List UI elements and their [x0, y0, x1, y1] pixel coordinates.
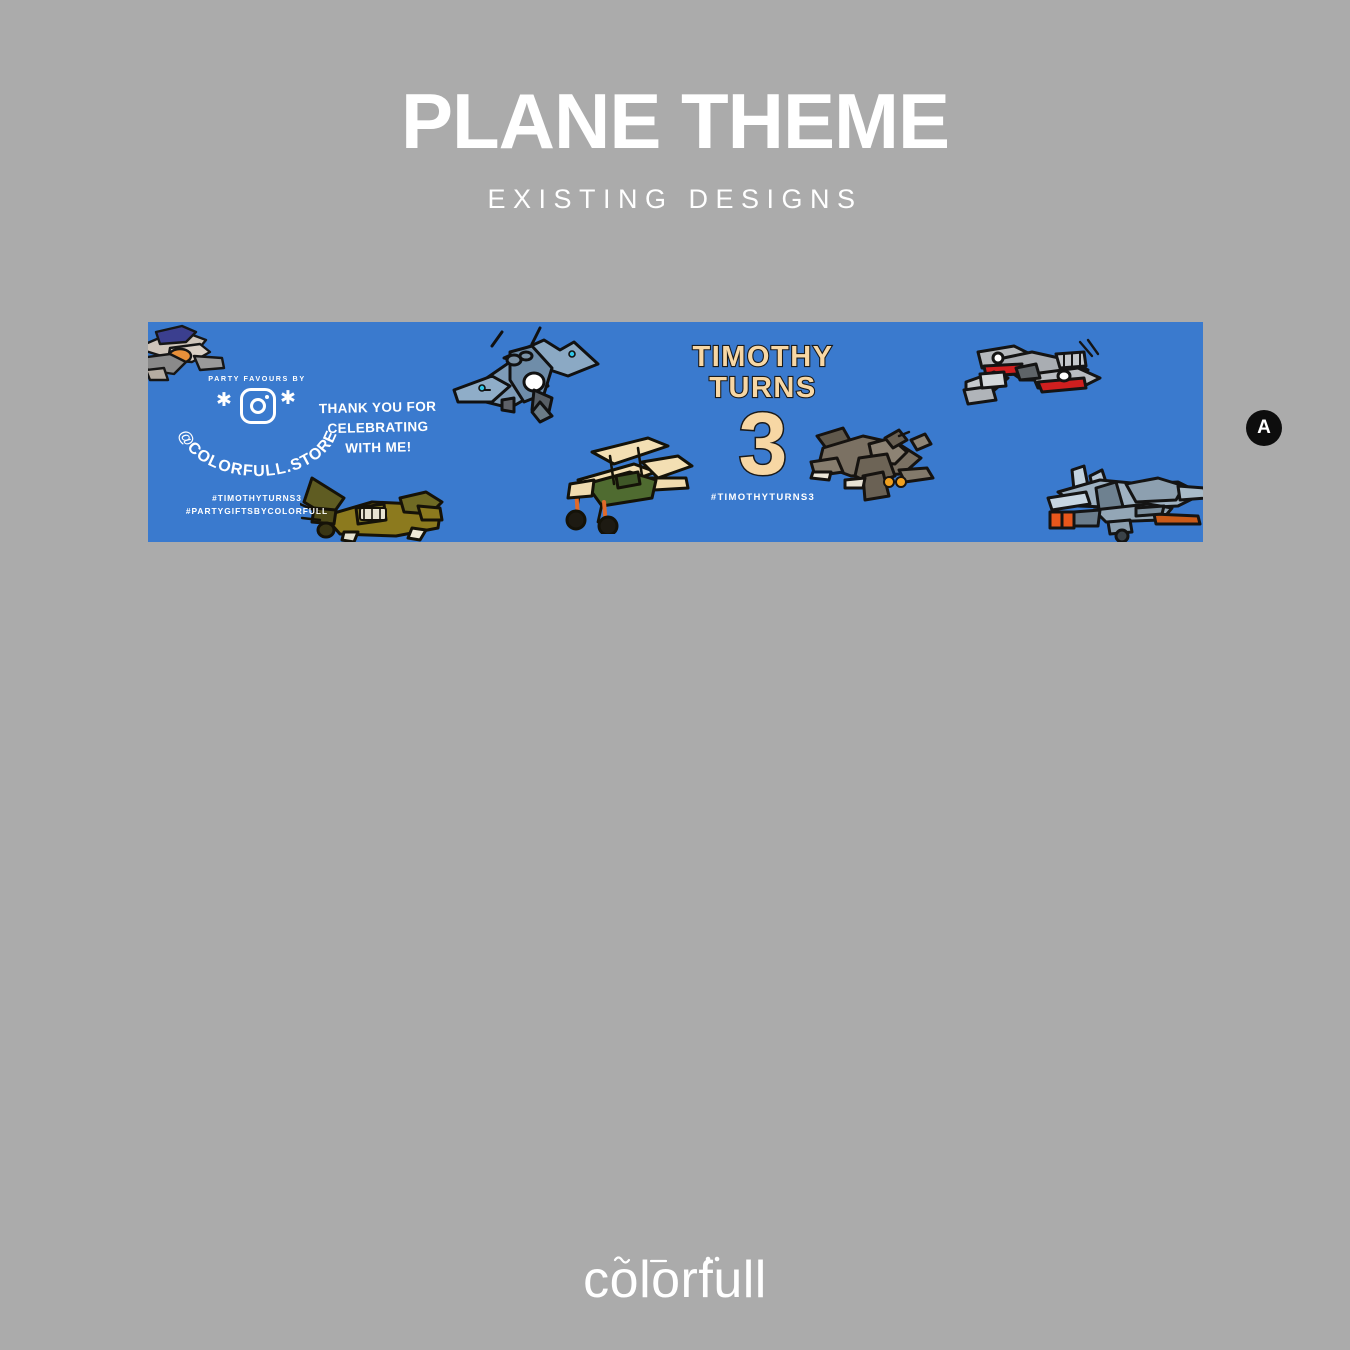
colorfull-logo: colorfull — [575, 1243, 775, 1315]
birthday-name-line-1: TIMOTHY — [648, 342, 878, 373]
jet-fighter-bottom-right-icon — [1038, 460, 1203, 542]
thank-you-line-3: WITH ME! — [316, 437, 440, 460]
thank-you-line-1: THANK YOU FOR — [315, 397, 439, 420]
thank-you-message: THANK YOU FOR CELEBRATING WITH ME! — [315, 397, 440, 460]
party-favours-label: PARTY FAVOURS BY — [184, 374, 330, 383]
colorfull-logo-text: colorfull — [583, 1251, 767, 1309]
thank-you-line-2: CELEBRATING — [316, 417, 440, 440]
hashtag-primary: #TIMOTHYTURNS3 — [162, 492, 352, 505]
banner-artboard[interactable]: PARTY FAVOURS BY ✱ ✱ @COLORFULL.STORE #T… — [148, 322, 1203, 542]
birthday-headline: TIMOTHY TURNS 3 #TIMOTHYTURNS3 — [648, 342, 878, 503]
footer-brand: colorfull — [0, 1243, 1350, 1320]
center-hashtag: #TIMOTHYTURNS3 — [648, 492, 878, 503]
variant-badge-a[interactable]: A — [1246, 410, 1282, 446]
page-title: PLANE THEME — [0, 0, 1350, 160]
page-header: PLANE THEME EXISTING DESIGNS — [0, 0, 1350, 215]
left-hashtags: #TIMOTHYTURNS3 #PARTYGIFTSBYCOLORFULL — [162, 492, 352, 518]
propeller-plane-silver-icon — [960, 338, 1112, 424]
page-subtitle: EXISTING DESIGNS — [0, 160, 1350, 215]
birthday-age: 3 — [648, 400, 878, 488]
hashtag-secondary: #PARTYGIFTSBYCOLORFULL — [162, 505, 352, 518]
